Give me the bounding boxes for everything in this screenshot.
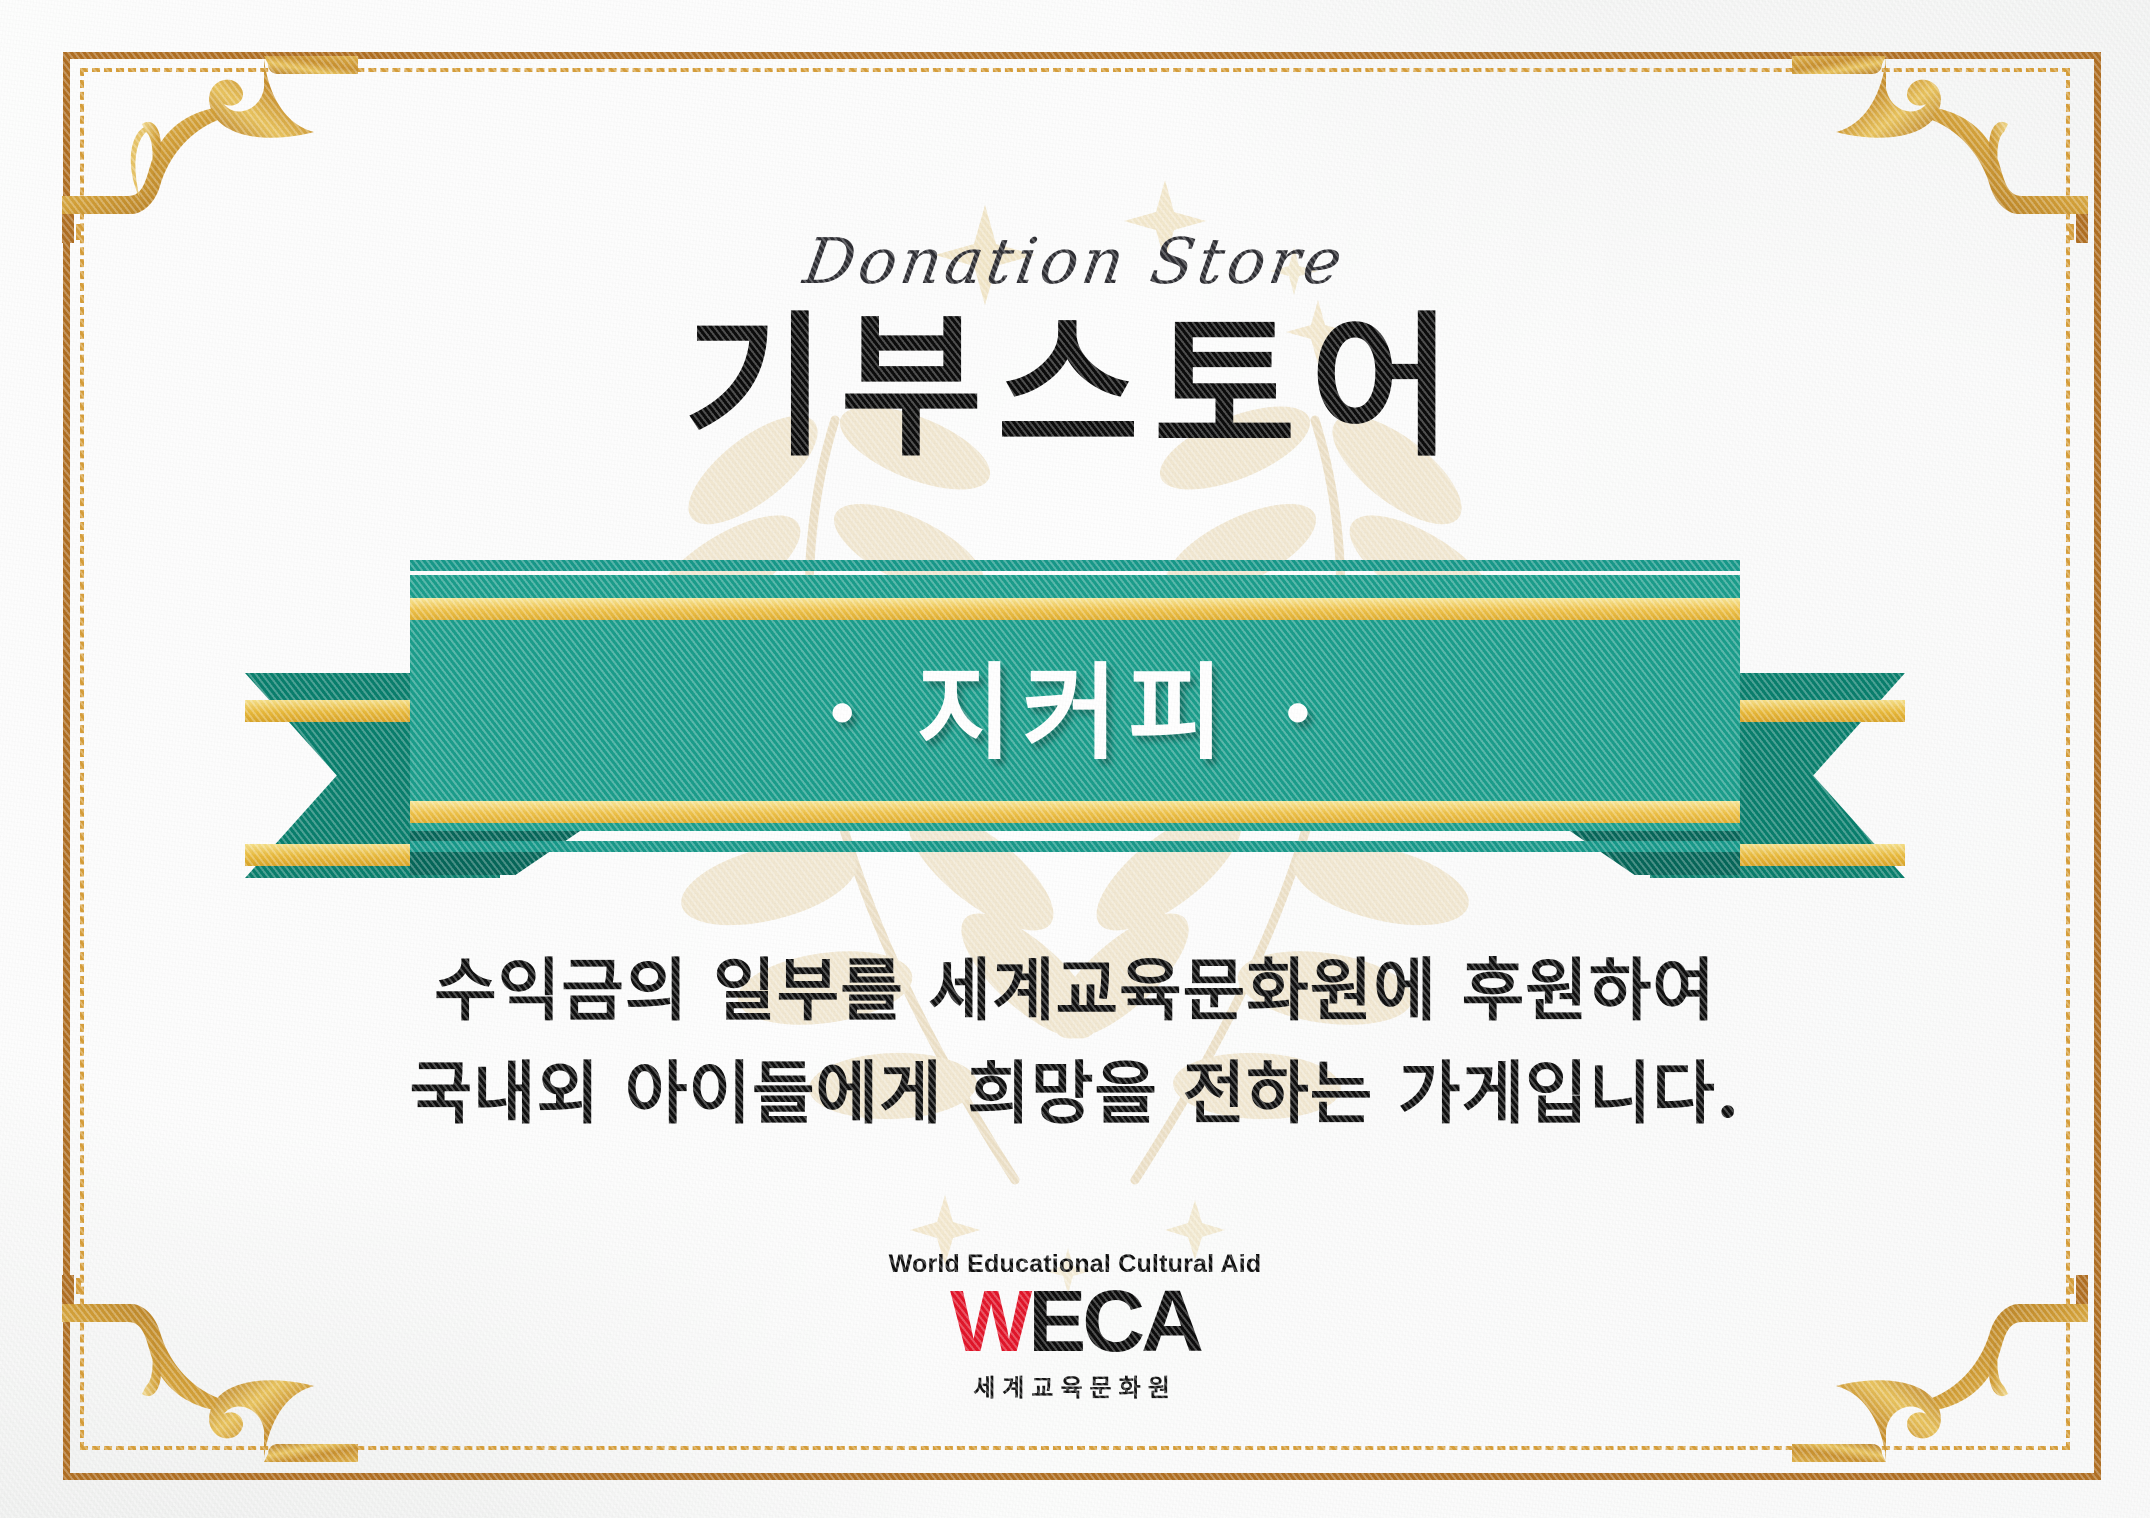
- logo-wordmark-eca: ECA: [1028, 1273, 1200, 1370]
- description-line-1: 수익금의 일부를 세계교육문화원에 후원하여: [0, 940, 2150, 1043]
- description-line-2: 국내외 아이들에게 희망을 전하는 가게입니다.: [0, 1043, 2150, 1146]
- page-title: 기부스토어: [0, 300, 2150, 474]
- ribbon-banner: · 지커피 ·: [0, 545, 2150, 895]
- logo-wordmark: WECA: [950, 1281, 1200, 1364]
- ribbon-label: · 지커피 ·: [410, 575, 1740, 831]
- ribbon-thin-line-bottom: [410, 841, 1740, 852]
- logo-wordmark-w: W: [950, 1273, 1028, 1370]
- ribbon-fold-shadow-right: [1570, 831, 1740, 875]
- logo-korean-name: 세계교육문화원: [0, 1368, 2150, 1403]
- script-subtitle: Donation Store: [0, 225, 2150, 298]
- poster-canvas: Donation Store 기부스토어 · 지커피 · 수익금의 일부를 세계…: [0, 0, 2150, 1518]
- description-block: 수익금의 일부를 세계교육문화원에 후원하여 국내외 아이들에게 희망을 전하는…: [0, 940, 2150, 1147]
- ribbon-fold-shadow-left: [410, 831, 580, 875]
- ribbon-thin-line-top: [410, 560, 1740, 571]
- weca-logo: World Educational Cultural Aid WECA 세계교육…: [0, 1250, 2150, 1403]
